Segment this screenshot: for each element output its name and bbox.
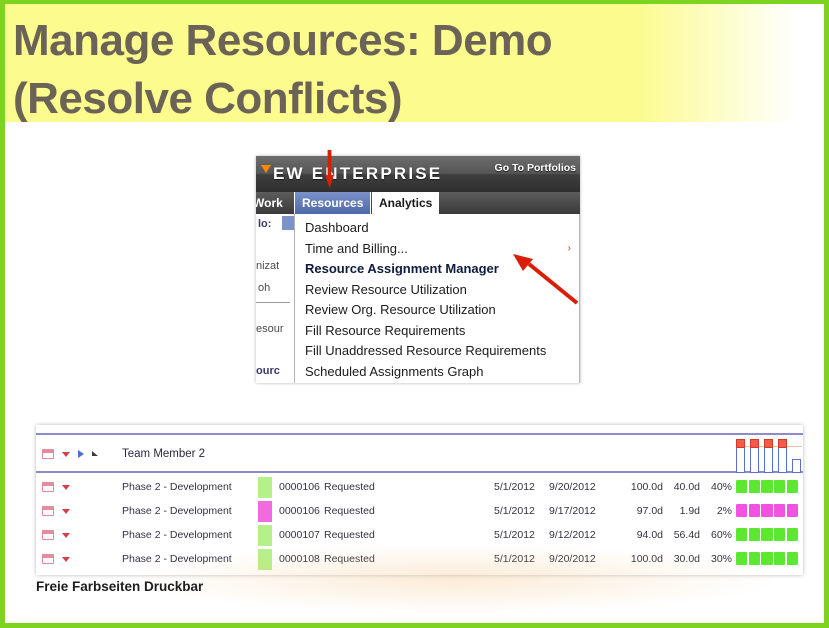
bg-fragment-oh: oh bbox=[258, 282, 270, 294]
overallocation-marker bbox=[764, 439, 773, 448]
chevron-down-icon[interactable] bbox=[62, 533, 70, 538]
calendar-icon[interactable] bbox=[42, 449, 54, 459]
go-to-portfolios-link[interactable]: Go To Portfolios bbox=[495, 162, 576, 174]
cell-percent: 30% bbox=[702, 547, 732, 572]
chart-bar bbox=[792, 459, 801, 473]
cell-task: Phase 2 - Development bbox=[122, 475, 272, 500]
overallocation-marker bbox=[736, 439, 745, 448]
cell-duration: 94.0d bbox=[619, 523, 663, 548]
cell-color-swatch bbox=[258, 525, 272, 546]
chart-bar bbox=[778, 447, 787, 473]
collapse-triangle-icon[interactable] bbox=[92, 451, 98, 456]
app-header-bar: EW ENTERPRISE Go To Portfolios bbox=[256, 156, 580, 192]
cell-start: 5/1/2012 bbox=[494, 499, 550, 524]
cell-progress-bar bbox=[736, 504, 798, 517]
cell-percent: 2% bbox=[702, 499, 732, 524]
chevron-down-icon[interactable] bbox=[62, 509, 70, 514]
group-row-label: Team Member 2 bbox=[122, 435, 205, 473]
cell-progress-bar bbox=[736, 552, 798, 565]
table-row[interactable]: Phase 2 - Development 0000106 Requested … bbox=[36, 499, 803, 524]
menu-item-label: Review Resource Utilization bbox=[305, 282, 467, 297]
cell-work: 30.0d bbox=[662, 547, 700, 572]
cell-color-swatch bbox=[258, 549, 272, 570]
app-brand-label: EW ENTERPRISE bbox=[273, 164, 442, 183]
tab-work[interactable]: Work bbox=[256, 192, 290, 214]
cell-work: 1.9d bbox=[662, 499, 700, 524]
menu-item-label: Scheduled Assignments Graph bbox=[305, 364, 484, 379]
menu-item-label: Review Org. Resource Utilization bbox=[305, 302, 496, 317]
cell-progress-bar bbox=[736, 480, 798, 493]
slide-page: Manage Resources: Demo (Resolve Conflict… bbox=[0, 0, 829, 628]
calendar-icon[interactable] bbox=[42, 554, 54, 564]
expand-triangle-icon[interactable] bbox=[78, 450, 84, 458]
brand-triangle-icon bbox=[261, 165, 271, 173]
main-tab-bar: Work Resources Analytics bbox=[256, 192, 580, 214]
cell-task: Phase 2 - Development bbox=[122, 523, 272, 548]
cell-work: 56.4d bbox=[662, 523, 700, 548]
tab-analytics[interactable]: Analytics bbox=[372, 192, 439, 214]
annotation-arrow-diagonal-icon bbox=[513, 254, 581, 306]
chevron-down-icon[interactable] bbox=[62, 557, 70, 562]
cell-percent: 60% bbox=[702, 523, 732, 548]
menu-item-fill-unaddressed-resource-requirements[interactable]: Fill Unaddressed Resource Requirements bbox=[295, 341, 579, 362]
menu-item-label: Resource Assignment Manager bbox=[305, 261, 499, 276]
cell-status: Requested bbox=[324, 475, 394, 500]
bg-fragment-resource: esour bbox=[256, 323, 284, 335]
table-row[interactable]: Phase 2 - Development 0000108 Requested … bbox=[36, 547, 803, 572]
menu-item-label: Fill Unaddressed Resource Requirements bbox=[305, 343, 546, 358]
title-band: Manage Resources: Demo (Resolve Conflict… bbox=[5, 4, 824, 122]
footer-caption: Freie Farbseiten Druckbar bbox=[36, 579, 203, 594]
calendar-icon[interactable] bbox=[42, 482, 54, 492]
calendar-icon[interactable] bbox=[42, 506, 54, 516]
menu-item-scheduled-assignments-graph[interactable]: Scheduled Assignments Graph bbox=[295, 362, 579, 383]
allocation-bar-chart bbox=[736, 437, 802, 473]
cell-finish: 9/20/2012 bbox=[549, 547, 609, 572]
menu-item-label: Time and Billing... bbox=[305, 241, 408, 256]
chart-bar bbox=[764, 447, 773, 473]
cell-work: 40.0d bbox=[662, 475, 700, 500]
overallocation-marker bbox=[778, 439, 787, 448]
cell-status: Requested bbox=[324, 499, 394, 524]
cell-task: Phase 2 - Development bbox=[122, 547, 272, 572]
bg-fragment-portfolio: lo: bbox=[258, 218, 271, 230]
cell-progress-bar bbox=[736, 528, 798, 541]
chevron-down-icon[interactable] bbox=[62, 452, 70, 457]
cell-duration: 100.0d bbox=[619, 547, 663, 572]
menu-item-label: Fill Resource Requirements bbox=[305, 323, 465, 338]
chart-bar bbox=[750, 447, 759, 473]
bg-fragment-organization: nizat bbox=[256, 260, 279, 272]
tab-resources[interactable]: Resources bbox=[294, 192, 371, 214]
annotation-arrow-down-icon bbox=[325, 150, 334, 188]
cell-status: Requested bbox=[324, 523, 394, 548]
cell-start: 5/1/2012 bbox=[494, 475, 550, 500]
app-brand: EW ENTERPRISE bbox=[260, 164, 442, 184]
cell-color-swatch bbox=[258, 477, 272, 498]
menu-item-label: Dashboard bbox=[305, 220, 369, 235]
cell-duration: 97.0d bbox=[619, 499, 663, 524]
resource-grid-screenshot: Team Member 2 Phase 2 - Development 0000… bbox=[36, 425, 803, 575]
cell-status: Requested bbox=[324, 547, 394, 572]
table-row[interactable]: Phase 2 - Development 0000106 Requested … bbox=[36, 475, 803, 500]
bg-divider-left bbox=[256, 302, 290, 303]
bg-fragment-source: ourc bbox=[256, 365, 280, 377]
cell-finish: 9/12/2012 bbox=[549, 523, 609, 548]
cell-duration: 100.0d bbox=[619, 475, 663, 500]
calendar-icon[interactable] bbox=[42, 530, 54, 540]
cell-color-swatch bbox=[258, 501, 272, 522]
bg-fragment-field bbox=[282, 216, 294, 230]
cell-finish: 9/20/2012 bbox=[549, 475, 609, 500]
menu-item-fill-resource-requirements[interactable]: Fill Resource Requirements bbox=[295, 321, 579, 342]
cell-start: 5/1/2012 bbox=[494, 547, 550, 572]
cell-task: Phase 2 - Development bbox=[122, 499, 272, 524]
cell-percent: 40% bbox=[702, 475, 732, 500]
page-title: Manage Resources: Demo (Resolve Conflict… bbox=[13, 12, 713, 128]
chart-bar bbox=[736, 447, 745, 473]
chevron-down-icon[interactable] bbox=[62, 485, 70, 490]
overallocation-marker bbox=[750, 439, 759, 448]
cell-finish: 9/17/2012 bbox=[549, 499, 609, 524]
menu-item-dashboard[interactable]: Dashboard bbox=[295, 218, 579, 239]
table-row[interactable]: Phase 2 - Development 0000107 Requested … bbox=[36, 523, 803, 548]
cell-start: 5/1/2012 bbox=[494, 523, 550, 548]
title-band-fade bbox=[634, 4, 824, 122]
